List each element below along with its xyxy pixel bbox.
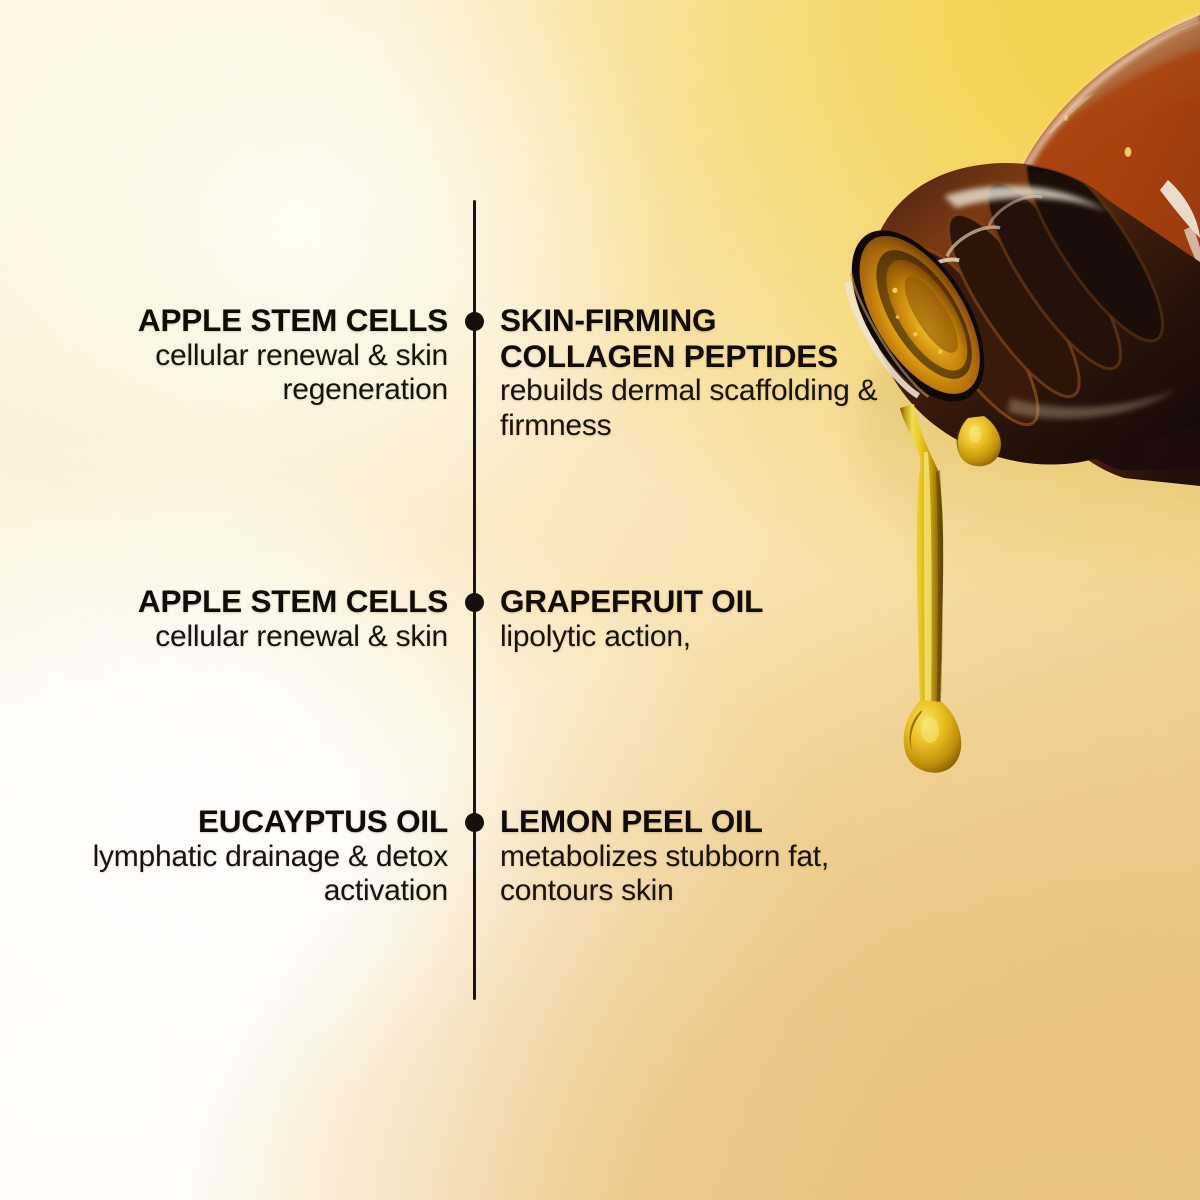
ingredient-list: APPLE STEM CELLS cellular renewal & skin… <box>0 0 1200 1200</box>
ingredient-description: cellular renewal & skin regeneration <box>40 339 448 409</box>
ingredient-description: metabolizes stubborn fat, contours skin <box>500 840 892 910</box>
ingredient-row-3-right: LEMON PEEL OIL metabolizes stubborn fat,… <box>500 804 892 909</box>
ingredient-title: SKIN-FIRMING COLLAGEN PEPTIDES <box>500 303 892 374</box>
ingredient-title: APPLE STEM CELLS <box>40 303 448 339</box>
ingredient-description: lymphatic drainage & detox activation <box>40 840 448 910</box>
ingredient-row-1-left: APPLE STEM CELLS cellular renewal & skin… <box>40 303 448 408</box>
ingredient-row-3-left: EUCAYPTUS OIL lymphatic drainage & detox… <box>40 804 448 909</box>
bullet-marker-1 <box>465 312 484 331</box>
ingredient-title: GRAPEFRUIT OIL <box>500 584 892 620</box>
ingredient-row-1-right: SKIN-FIRMING COLLAGEN PEPTIDES rebuilds … <box>500 303 892 444</box>
ingredient-title: APPLE STEM CELLS <box>40 584 448 620</box>
bullet-marker-2 <box>465 593 484 612</box>
ingredient-row-2-left: APPLE STEM CELLS cellular renewal & skin <box>40 584 448 654</box>
ingredient-title: EUCAYPTUS OIL <box>40 804 448 840</box>
infographic-canvas: APPLE STEM CELLS cellular renewal & skin… <box>0 0 1200 1200</box>
bullet-marker-3 <box>465 813 484 832</box>
ingredient-title: LEMON PEEL OIL <box>500 804 892 840</box>
ingredient-row-2-right: GRAPEFRUIT OIL lipolytic action, <box>500 584 892 654</box>
ingredient-description: cellular renewal & skin <box>40 620 448 655</box>
ingredient-description: lipolytic action, <box>500 620 892 655</box>
ingredient-description: rebuilds dermal scaffolding & firmness <box>500 374 892 444</box>
